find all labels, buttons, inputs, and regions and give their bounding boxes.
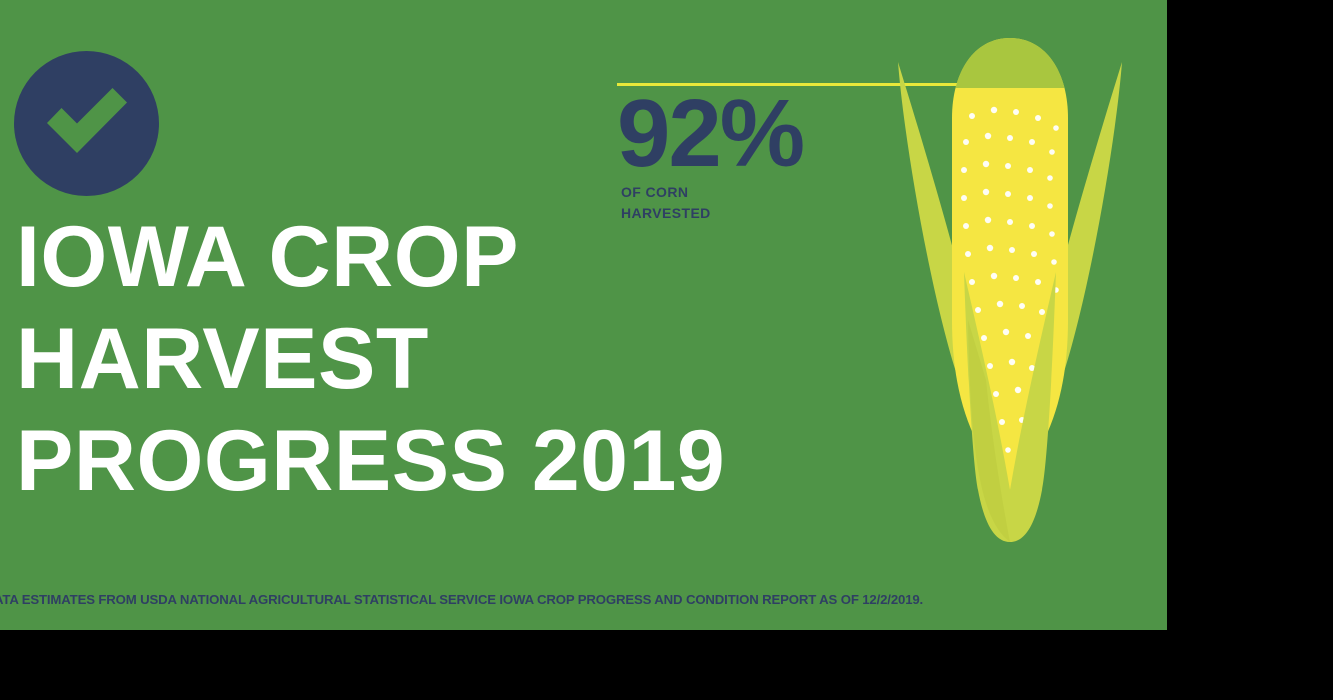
footer-source-note: ATA ESTIMATES FROM USDA NATIONAL AGRICUL…: [0, 592, 1167, 607]
title-line-2: HARVEST: [16, 308, 816, 410]
title-line-3: PROGRESS 2019: [16, 410, 816, 512]
check-circle-icon: [14, 51, 159, 196]
corn-cob-icon: [860, 20, 1160, 580]
page-title: IOWA CROP HARVEST PROGRESS 2019: [16, 206, 816, 512]
screenshot-canvas: IOWA CROP HARVEST PROGRESS 2019 92% OF C…: [0, 0, 1333, 700]
infographic-panel: IOWA CROP HARVEST PROGRESS 2019 92% OF C…: [0, 0, 1167, 630]
